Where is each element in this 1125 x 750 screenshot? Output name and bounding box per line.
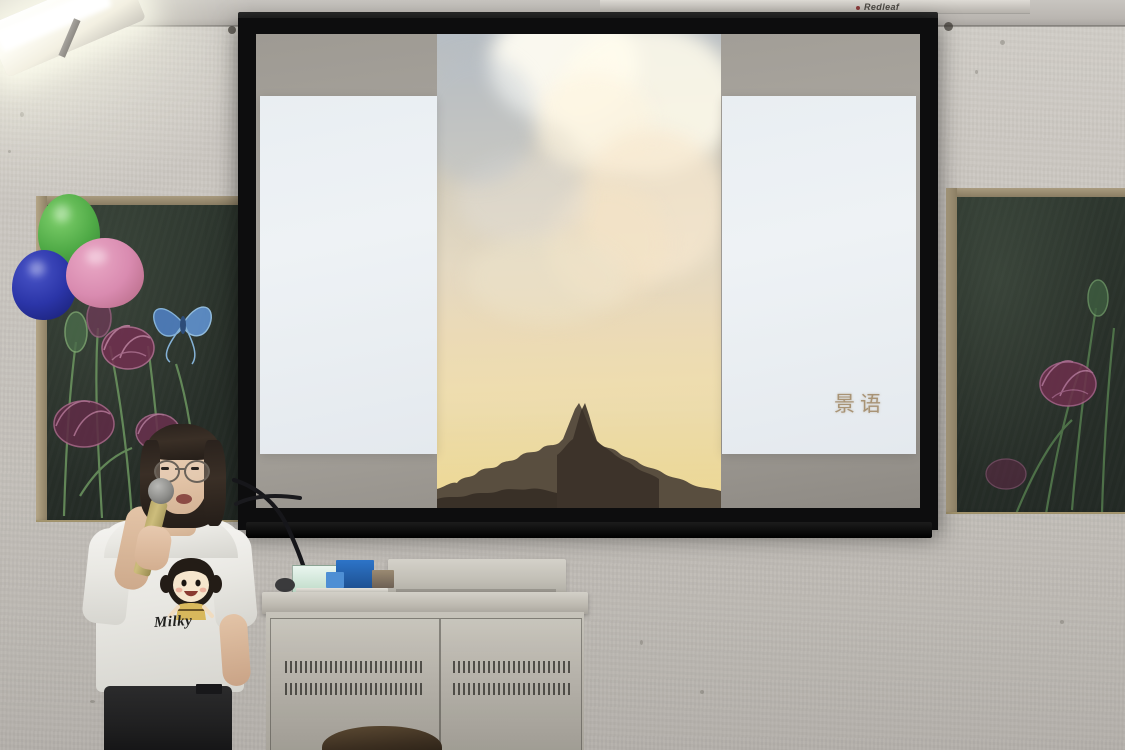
podium-door-right[interactable] [440,618,582,750]
glasses-lens-right [184,460,210,483]
presenter-eye-right [191,467,199,470]
classroom-scene: Redleaf [0,0,1125,750]
tshirt-word: Milky [154,613,193,632]
podium-top-surface [262,592,588,614]
wall-speck [1060,620,1064,624]
brand-bullet-icon [856,6,860,10]
blackboard-right-surface [946,188,1125,514]
screen-canvas: 景语 [256,34,920,508]
blackboard-right-frame-left [946,188,957,514]
slide-panel-right-text: 景语 [834,388,886,418]
podium-vent [453,683,573,695]
slide-panel-right: 景语 [722,96,916,454]
screen-ceiling-hook [228,26,236,34]
balloon-pink [66,238,144,308]
desk-item-cable-coil [275,578,295,592]
projection-screen: 景语 [238,12,938,542]
podium-vent [285,661,423,673]
wall-speck [90,700,95,703]
balloon-blue [12,250,76,320]
presenter-hair-side-right [204,440,226,526]
desk-item-brown [372,570,394,588]
screen-weight-bar [246,522,932,538]
podium-cabinet [266,612,584,750]
chalk-ledge-right [946,512,1125,514]
podium-vent [285,683,423,695]
slide-panel-left [260,96,437,454]
podium-vent [453,661,573,673]
projector-brand-label: Redleaf [864,2,899,12]
presenter-mouth [176,494,192,504]
wall-speck [975,70,978,74]
desk-item-blue-small [326,572,344,588]
glasses-bridge [175,468,185,470]
blackboard-right [946,188,1125,514]
presenter-arm-right [219,613,252,687]
wall-speck [8,150,11,153]
tshirt-cartoon-girl-icon [158,554,224,622]
slide-photo-sunset [437,34,721,508]
screen-ceiling-hook [944,22,953,31]
wall-speck [640,640,643,645]
wall-speck [1000,40,1005,45]
microphone-head[interactable] [148,478,174,504]
projected-slide: 景语 [256,34,920,508]
blackboard-right-frame-top [946,188,1125,197]
presenter-eye-left [161,467,169,470]
tshirt-hem-label [196,684,222,694]
presenter-trousers [104,686,232,750]
wall-speck [20,112,24,117]
tree-silhouette [437,403,721,508]
wall-speck [700,690,704,694]
